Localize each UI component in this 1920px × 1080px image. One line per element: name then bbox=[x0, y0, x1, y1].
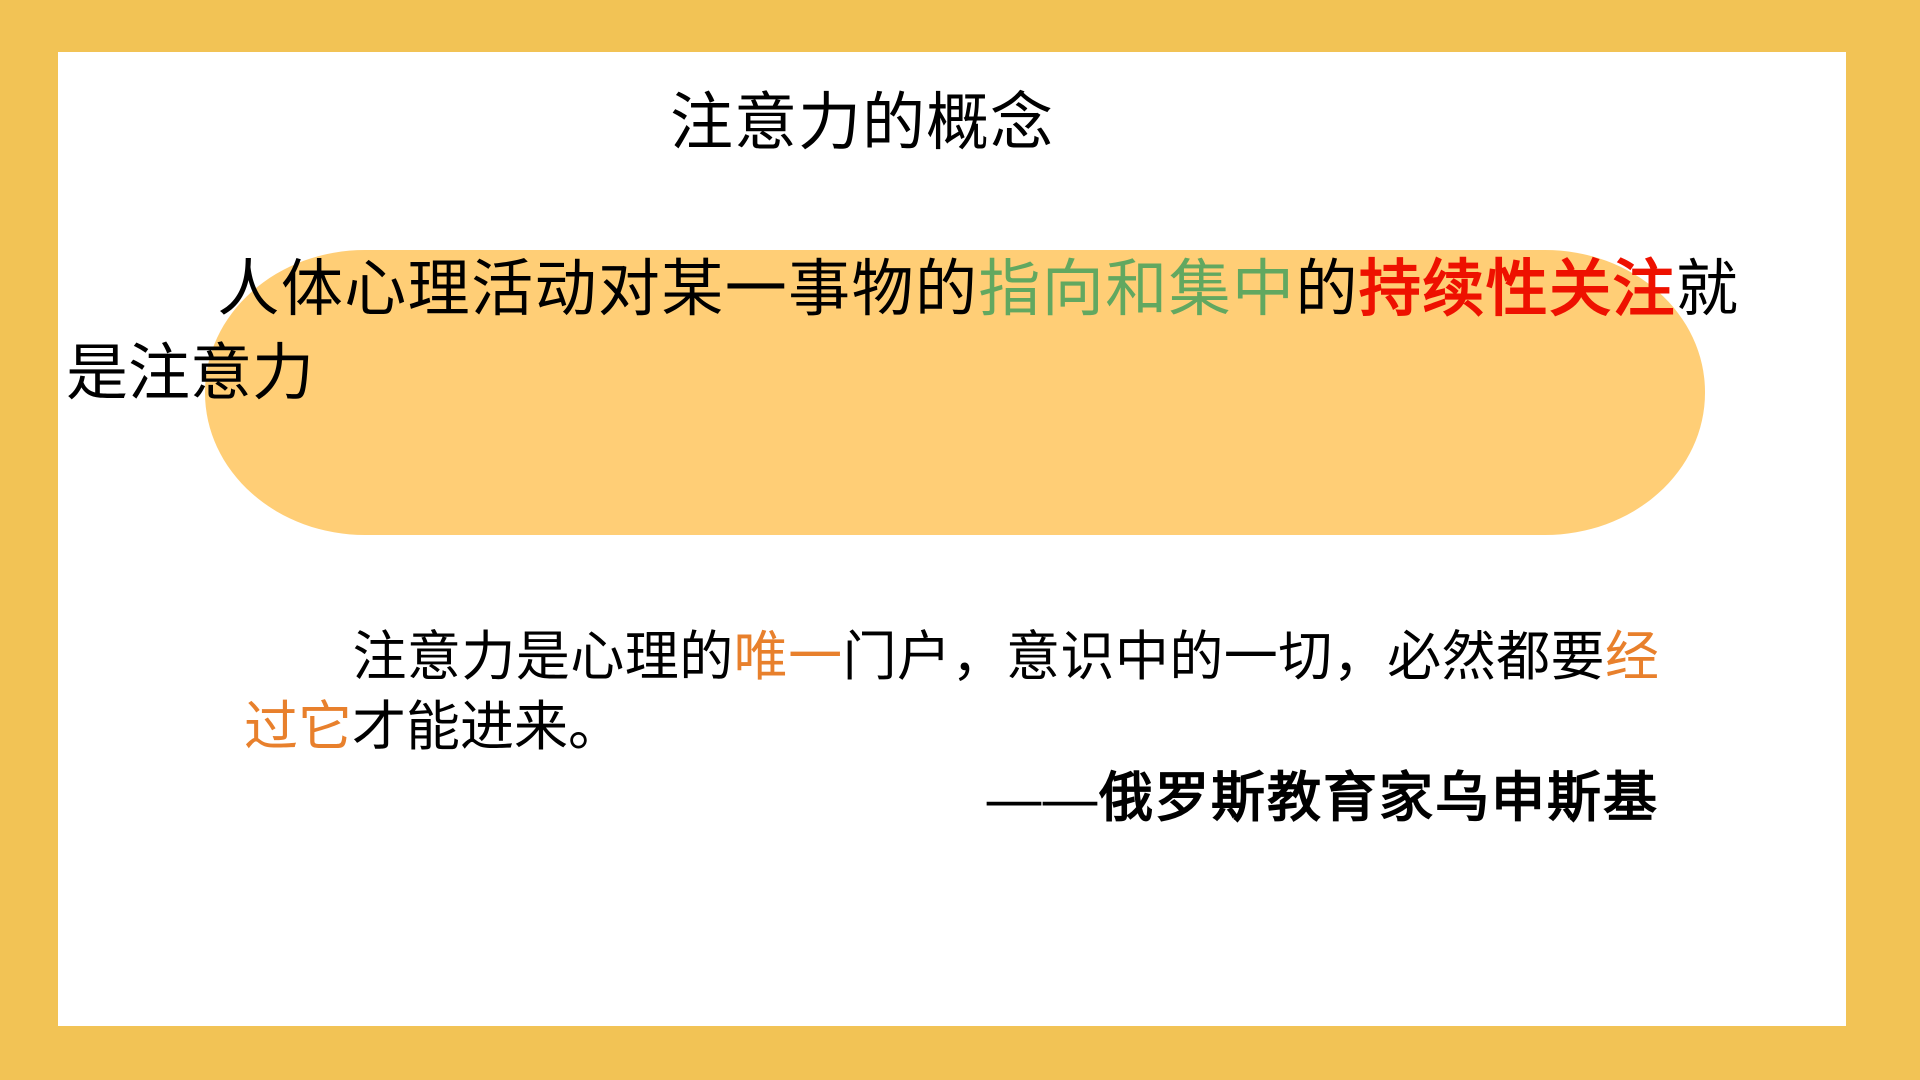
quote-highlight-weiyi: 唯一 bbox=[734, 627, 843, 687]
page-title: 注意力的概念 bbox=[58, 90, 1846, 156]
callout-line2-plain-a: 的 bbox=[1295, 256, 1358, 324]
callout-line1-green: 指向和 bbox=[978, 256, 1168, 324]
callout-line2-red: 持续性关注 bbox=[1359, 256, 1676, 324]
callout-definition-text: 人体心理活动对某一事物的指向和集中的持续性关注就是注意力 bbox=[58, 248, 1738, 417]
slide-canvas: 注意力的概念 人体心理活动对某一事物的指向和集中的持续性关注就是注意力 注意力是… bbox=[0, 0, 1920, 1080]
quote-attribution: ——俄罗斯教育家乌申斯基 bbox=[244, 763, 1659, 833]
quote-paragraph: 注意力是心理的唯一门户，意识中的一切，必然都要经过它才能进来。 bbox=[244, 622, 1659, 762]
quote-part3: 才能进来。 bbox=[352, 697, 622, 757]
quote-part1: 注意力是心理的 bbox=[352, 627, 734, 687]
slide-content-panel: 注意力的概念 人体心理活动对某一事物的指向和集中的持续性关注就是注意力 注意力是… bbox=[58, 52, 1846, 1026]
quote-part2: 门户，意识中的一切，必然都要 bbox=[843, 627, 1605, 687]
callout-line1-plain: 人体心理活动对某一事物的 bbox=[216, 256, 978, 324]
callout-line2-green: 集中 bbox=[1169, 256, 1296, 324]
